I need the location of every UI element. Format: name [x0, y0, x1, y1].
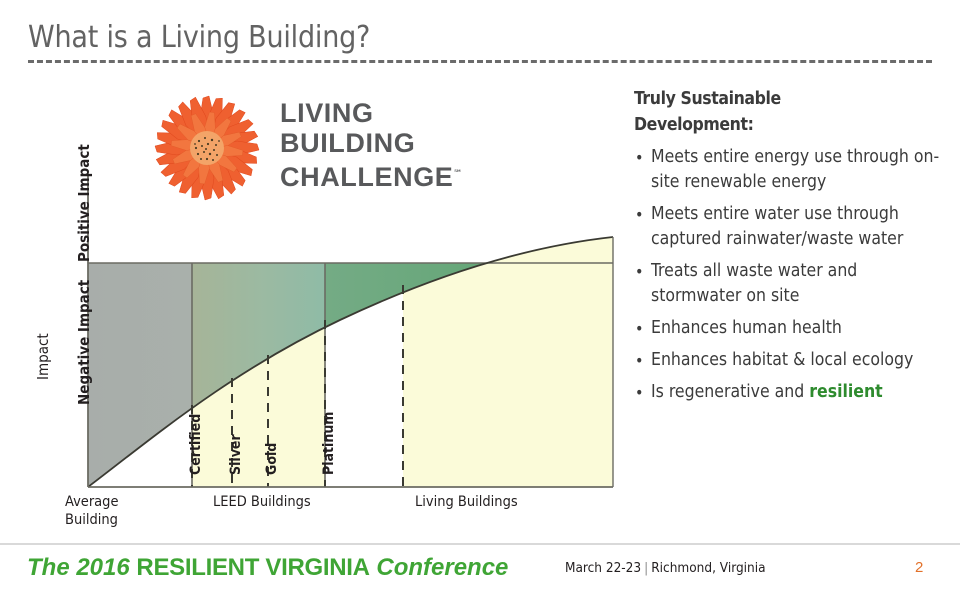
meta-separator: | — [641, 560, 651, 576]
brand-conference: Conference — [370, 554, 509, 581]
x-label-average-building: Average Building — [65, 493, 160, 529]
conference-dates: March 22-23 — [565, 560, 641, 576]
list-item: Meets entire water use through captured … — [634, 202, 944, 252]
brand-the: The 2016 — [27, 554, 136, 581]
y-axis-section-positive: Positive Impact — [75, 144, 93, 262]
sustainability-bullet-list: Meets entire energy use through on-site … — [634, 145, 944, 405]
title-divider — [28, 60, 932, 63]
list-item: Meets entire energy use through on-site … — [634, 145, 944, 195]
slide-footer: The 2016 RESILIENT VIRGINIA Conference M… — [0, 545, 960, 600]
brand-name: RESILIENT VIRGINIA — [136, 554, 369, 581]
page-title: What is a Living Building? — [28, 20, 370, 56]
list-item: Enhances habitat & local ecology — [634, 348, 944, 373]
x-label-living-buildings: Living Buildings — [415, 493, 565, 511]
sustainability-panel: Truly Sustainable Development: Meets ent… — [634, 86, 944, 412]
y-axis-title: Impact — [34, 333, 52, 380]
tier-label-gold: Gold — [264, 443, 280, 475]
list-item: Treats all waste water and stormwater on… — [634, 259, 944, 309]
x-label-leed-buildings: LEED Buildings — [213, 493, 353, 511]
logo-line-1: LIVING — [280, 98, 463, 128]
highlight-resilient: resilient — [809, 382, 882, 402]
list-item-text: Is regenerative and — [651, 382, 809, 402]
panel-heading: Truly Sustainable Development: — [634, 86, 944, 138]
conference-location: Richmond, Virginia — [651, 560, 765, 576]
conference-meta: March 22-23|Richmond, Virginia — [565, 560, 766, 576]
tier-label-silver: Silver — [228, 434, 244, 475]
page-number: 2 — [915, 559, 923, 576]
slide-root: What is a Living Building? — [0, 0, 960, 600]
impact-chart: Impact Positive Impact Negative Impact C… — [20, 150, 630, 540]
impact-chart-svg — [20, 150, 630, 540]
y-axis-section-negative: Negative Impact — [75, 280, 93, 405]
list-item: Is regenerative and resilient — [634, 380, 944, 405]
tier-label-platinum: Platinum — [321, 412, 337, 475]
list-item: Enhances human health — [634, 316, 944, 341]
conference-brand: The 2016 RESILIENT VIRGINIA Conference — [27, 553, 508, 583]
tier-label-certified: Certified — [188, 414, 204, 475]
